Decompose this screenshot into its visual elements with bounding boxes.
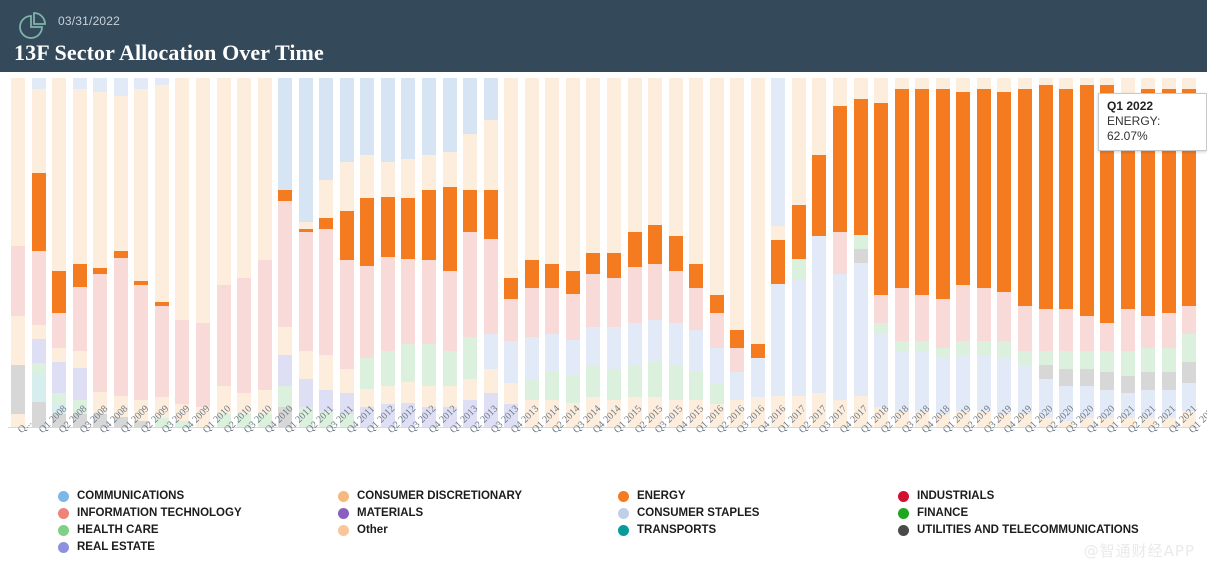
- segment-other: [936, 78, 950, 89]
- segment-real-estate: [52, 362, 66, 394]
- segment-consumer-staples: [73, 78, 87, 89]
- segment-other: [730, 78, 744, 330]
- bar-q2-2013[interactable]: [463, 78, 477, 428]
- segment-health-care: [915, 341, 929, 352]
- segment-other: [32, 89, 46, 173]
- segment-other: [175, 78, 189, 320]
- legend-swatch-icon: [618, 525, 629, 536]
- segment-other: [1141, 78, 1155, 89]
- segment-consumer-staples: [93, 78, 107, 92]
- segment-health-care: [956, 341, 970, 355]
- legend-label: FINANCE: [917, 507, 968, 519]
- segment-utilities-and-telecommunications: [1080, 369, 1094, 387]
- legend-item-real-estate[interactable]: REAL ESTATE: [58, 539, 242, 555]
- segment-health-care: [607, 369, 621, 401]
- legend-swatch-icon: [898, 508, 909, 519]
- segment-consumer-staples: [874, 334, 888, 408]
- segment-health-care: [936, 348, 950, 359]
- segment-energy: [319, 218, 333, 229]
- segment-consumer-staples: [114, 78, 128, 96]
- segment-energy: [566, 271, 580, 294]
- bar-q1-2008[interactable]: [32, 78, 46, 428]
- bar-q4-2019[interactable]: [997, 78, 1011, 428]
- segment-energy: [422, 190, 436, 260]
- legend-item-finance[interactable]: FINANCE: [898, 505, 1139, 521]
- bar-q3-2012[interactable]: [401, 78, 415, 428]
- segment-other: [381, 162, 395, 197]
- segment-health-care: [1100, 351, 1114, 372]
- segment-energy: [32, 173, 46, 252]
- legend-swatch-icon: [898, 525, 909, 536]
- segment-health-care: [278, 386, 292, 407]
- bar-q4-2018[interactable]: [915, 78, 929, 428]
- segment-information-technology: [93, 274, 107, 392]
- segment-health-care: [1018, 351, 1032, 365]
- bar-q2-2019[interactable]: [956, 78, 970, 428]
- bar-q1-2020[interactable]: [1018, 78, 1032, 428]
- bar-q1-2014[interactable]: [525, 78, 539, 428]
- segment-other: [1018, 78, 1032, 89]
- segment-information-technology: [833, 232, 847, 274]
- segment-health-care: [1080, 351, 1094, 369]
- bar-q2-2018[interactable]: [874, 78, 888, 428]
- legend-swatch-icon: [338, 508, 349, 519]
- segment-other: [401, 159, 415, 198]
- segment-energy: [504, 278, 518, 299]
- bar-q2-2020[interactable]: [1039, 78, 1053, 428]
- bar-q1-2017[interactable]: [771, 78, 785, 428]
- segment-real-estate: [73, 368, 87, 400]
- segment-other: [401, 382, 415, 403]
- segment-information-technology: [1018, 306, 1032, 352]
- segment-consumer-staples: [669, 323, 683, 365]
- bar-q2-2009[interactable]: [134, 78, 148, 428]
- legend-label: HEALTH CARE: [77, 524, 159, 536]
- tooltip-value: ENERGY: 62.07%: [1107, 114, 1198, 144]
- segment-energy: [936, 89, 950, 299]
- segment-communications: [319, 78, 333, 180]
- segment-energy: [114, 251, 128, 258]
- segment-other: [155, 85, 169, 302]
- segment-other: [751, 78, 765, 344]
- segment-other: [628, 78, 642, 232]
- bar-q3-2020[interactable]: [1059, 78, 1073, 428]
- segment-consumer-staples: [566, 340, 580, 375]
- legend-label: CONSUMER STAPLES: [637, 507, 759, 519]
- legend-item-consumer-staples[interactable]: CONSUMER STAPLES: [618, 505, 759, 521]
- segment-energy: [854, 99, 868, 234]
- legend-swatch-icon: [338, 525, 349, 536]
- chart-tooltip: Q1 2022 ENERGY: 62.07%: [1098, 93, 1207, 151]
- bar-q4-2013[interactable]: [504, 78, 518, 428]
- legend-label: MATERIALS: [357, 507, 423, 519]
- legend-label: Other: [357, 524, 388, 536]
- segment-information-technology: [443, 271, 457, 352]
- legend-swatch-icon: [898, 491, 909, 502]
- app-header: 03/31/2022 13F Sector Allocation Over Ti…: [0, 0, 1207, 72]
- segment-other: [895, 78, 909, 89]
- report-date: 03/31/2022: [58, 14, 120, 28]
- bar-q3-2016[interactable]: [730, 78, 744, 428]
- segment-energy: [93, 268, 107, 273]
- segment-consumer-staples: [833, 274, 847, 400]
- segment-energy: [895, 89, 909, 289]
- segment-other: [463, 134, 477, 190]
- segment-health-care: [545, 372, 559, 400]
- segment-other: [299, 222, 313, 229]
- segment-other: [874, 78, 888, 103]
- segment-communications: [484, 78, 498, 120]
- legend-item-utilities-and-telecommunications[interactable]: UTILITIES AND TELECOMMUNICATIONS: [898, 522, 1139, 538]
- segment-other: [669, 78, 683, 236]
- segment-utilities-and-telecommunications: [1141, 372, 1155, 390]
- segment-other: [1080, 78, 1094, 85]
- segment-energy: [648, 225, 662, 264]
- bar-q1-2010[interactable]: [196, 78, 210, 428]
- page-title: 13F Sector Allocation Over Time: [14, 40, 324, 66]
- bar-q2-2016[interactable]: [710, 78, 724, 428]
- segment-other: [299, 351, 313, 379]
- segment-utilities-and-telecommunications: [1182, 362, 1196, 383]
- segment-energy: [689, 264, 703, 289]
- bar-q3-2018[interactable]: [895, 78, 909, 428]
- pie-chart-icon: [14, 10, 50, 44]
- bar-q1-2018[interactable]: [854, 78, 868, 428]
- segment-other: [689, 78, 703, 264]
- segment-energy: [52, 271, 66, 313]
- tooltip-title: Q1 2022: [1107, 99, 1198, 114]
- segment-health-care: [32, 363, 46, 374]
- bar-q4-2017[interactable]: [833, 78, 847, 428]
- bar-q2-2015[interactable]: [628, 78, 642, 428]
- segment-information-technology: [628, 267, 642, 323]
- segment-energy: [792, 205, 806, 260]
- legend-column: INDUSTRIALSFINANCEUTILITIES AND TELECOMM…: [898, 488, 1139, 539]
- legend-swatch-icon: [618, 491, 629, 502]
- legend-item-transports[interactable]: TRANSPORTS: [618, 522, 759, 538]
- segment-information-technology: [1100, 323, 1114, 351]
- segment-other: [319, 180, 333, 219]
- segment-energy: [977, 89, 991, 289]
- segment-information-technology: [175, 320, 189, 404]
- legend-column: COMMUNICATIONSINFORMATION TECHNOLOGYHEAL…: [58, 488, 242, 556]
- bar-q4-2007[interactable]: [11, 78, 25, 428]
- segment-other: [340, 369, 354, 394]
- segment-other: [134, 89, 148, 282]
- bar-q4-2015[interactable]: [669, 78, 683, 428]
- segment-health-care: [874, 323, 888, 334]
- bar-q4-2020[interactable]: [1080, 78, 1094, 428]
- segment-other: [52, 348, 66, 362]
- x-axis-labels: Q...Q1 2008Q2 2008Q3 2008Q4 2008Q1 2009Q…: [0, 428, 1207, 486]
- segment-other: [484, 369, 498, 394]
- legend-label: TRANSPORTS: [637, 524, 716, 536]
- segment-energy: [607, 253, 621, 278]
- legend-item-consumer-discretionary[interactable]: CONSUMER DISCRETIONARY: [338, 488, 522, 504]
- segment-utilities-and-telecommunications: [1059, 369, 1073, 387]
- segment-other: [1162, 78, 1176, 89]
- segment-other: [278, 327, 292, 355]
- legend-label: ENERGY: [637, 490, 686, 502]
- legend-item-industrials[interactable]: INDUSTRIALS: [898, 488, 1139, 504]
- legend-item-other[interactable]: Other: [338, 522, 522, 538]
- segment-consumer-staples: [134, 78, 148, 89]
- segment-consumer-staples: [628, 323, 642, 365]
- segment-health-care: [422, 344, 436, 386]
- segment-information-technology: [997, 292, 1011, 341]
- segment-communications: [278, 78, 292, 190]
- bar-q2-2014[interactable]: [545, 78, 559, 428]
- bar-q2-2010[interactable]: [217, 78, 231, 428]
- bar-q3-2011[interactable]: [319, 78, 333, 428]
- bar-q3-2017[interactable]: [812, 78, 826, 428]
- segment-health-care: [586, 365, 600, 397]
- segment-other: [997, 78, 1011, 92]
- watermark: @智通财经APP: [1084, 540, 1195, 561]
- segment-communications: [360, 78, 374, 155]
- segment-utilities-and-telecommunications: [1162, 372, 1176, 390]
- segment-communications: [381, 78, 395, 162]
- segment-consumer-staples: [956, 355, 970, 411]
- segment-energy: [833, 106, 847, 232]
- segment-energy: [586, 253, 600, 274]
- segment-health-care: [566, 375, 580, 403]
- segment-energy: [812, 155, 826, 236]
- segment-information-technology: [360, 266, 374, 357]
- segment-consumer-staples: [792, 280, 806, 396]
- segment-consumer-staples: [915, 351, 929, 411]
- segment-other: [1182, 78, 1196, 88]
- segment-consumer-staples: [854, 263, 868, 397]
- segment-communications: [422, 78, 436, 155]
- bar-q3-2010[interactable]: [237, 78, 251, 428]
- legend-item-materials[interactable]: MATERIALS: [338, 505, 522, 521]
- segment-other: [381, 386, 395, 404]
- segment-energy: [874, 103, 888, 296]
- legend-label: UTILITIES AND TELECOMMUNICATIONS: [917, 524, 1139, 536]
- bar-q4-2012[interactable]: [422, 78, 436, 428]
- segment-information-technology: [422, 260, 436, 344]
- segment-information-technology: [237, 278, 251, 394]
- segment-communications: [401, 78, 415, 159]
- segment-energy: [628, 232, 642, 267]
- segment-information-technology: [319, 229, 333, 355]
- segment-information-technology: [586, 274, 600, 327]
- segment-information-technology: [648, 264, 662, 320]
- bar-q1-2016[interactable]: [689, 78, 703, 428]
- segment-consumer-staples: [545, 334, 559, 373]
- bar-q1-2019[interactable]: [936, 78, 950, 428]
- bar-q1-2009[interactable]: [114, 78, 128, 428]
- bar-q3-2008[interactable]: [73, 78, 87, 428]
- segment-communications: [299, 78, 313, 222]
- segment-energy: [710, 295, 724, 313]
- segment-energy: [155, 302, 169, 306]
- legend-label: COMMUNICATIONS: [77, 490, 184, 502]
- segment-other: [237, 78, 251, 278]
- segment-consumer-staples: [730, 372, 744, 400]
- segment-information-technology: [669, 271, 683, 324]
- segment-energy: [956, 92, 970, 285]
- segment-other: [566, 78, 580, 271]
- legend-label: INFORMATION TECHNOLOGY: [77, 507, 242, 519]
- segment-other: [196, 78, 210, 323]
- segment-energy: [278, 190, 292, 201]
- segment-energy: [360, 198, 374, 267]
- segment-information-technology: [155, 306, 169, 397]
- bar-q3-2014[interactable]: [566, 78, 580, 428]
- segment-energy: [73, 264, 87, 287]
- segment-other: [32, 325, 46, 339]
- bar-q3-2013[interactable]: [484, 78, 498, 428]
- segment-information-technology: [915, 295, 929, 341]
- segment-energy: [1080, 85, 1094, 316]
- legend-swatch-icon: [58, 542, 69, 553]
- segment-information-technology: [381, 257, 395, 352]
- legend-item-energy[interactable]: ENERGY: [618, 488, 759, 504]
- bar-q4-2009[interactable]: [175, 78, 189, 428]
- bar-q2-2011[interactable]: [299, 78, 313, 428]
- segment-other: [854, 78, 868, 99]
- bar-q1-2011[interactable]: [278, 78, 292, 428]
- bar-q1-2012[interactable]: [360, 78, 374, 428]
- legend-label: INDUSTRIALS: [917, 490, 994, 502]
- bar-q4-2016[interactable]: [751, 78, 765, 428]
- segment-energy: [381, 197, 395, 257]
- bar-q4-2010[interactable]: [258, 78, 272, 428]
- segment-other: [73, 351, 87, 369]
- segment-other: [504, 78, 518, 278]
- segment-health-care: [628, 365, 642, 397]
- segment-other: [11, 316, 25, 365]
- segment-energy: [545, 264, 559, 289]
- segment-other: [422, 155, 436, 190]
- legend-column: ENERGYCONSUMER STAPLESTRANSPORTS: [618, 488, 759, 539]
- segment-energy: [299, 229, 313, 233]
- legend-swatch-icon: [338, 491, 349, 502]
- bar-q3-2015[interactable]: [648, 78, 662, 428]
- legend-item-information-technology[interactable]: INFORMATION TECHNOLOGY: [58, 505, 242, 521]
- segment-other: [525, 78, 539, 260]
- segment-information-technology: [196, 323, 210, 407]
- bar-q3-2019[interactable]: [977, 78, 991, 428]
- bar-q2-2008[interactable]: [52, 78, 66, 428]
- segment-real-estate: [278, 355, 292, 387]
- bar-q4-2011[interactable]: [340, 78, 354, 428]
- segment-other: [771, 226, 785, 240]
- segment-utilities-and-telecommunications: [1039, 365, 1053, 379]
- segment-consumer-staples: [689, 330, 703, 372]
- segment-information-technology: [11, 246, 25, 316]
- segment-information-technology: [607, 278, 621, 327]
- segment-information-technology: [258, 260, 272, 390]
- segment-information-technology: [73, 287, 87, 350]
- bar-q4-2008[interactable]: [93, 78, 107, 428]
- segment-energy: [463, 190, 477, 232]
- segment-consumer-staples: [812, 236, 826, 394]
- bar-q1-2013[interactable]: [443, 78, 457, 428]
- segment-consumer-staples: [771, 78, 785, 226]
- bar-q2-2012[interactable]: [381, 78, 395, 428]
- segment-health-care: [1039, 351, 1053, 365]
- bar-q1-2015[interactable]: [607, 78, 621, 428]
- segment-other: [319, 355, 333, 390]
- segment-health-care: [1162, 348, 1176, 373]
- segment-consumer-staples: [155, 78, 169, 85]
- segment-other: [833, 78, 847, 106]
- segment-other: [443, 152, 457, 187]
- segment-health-care: [1059, 351, 1073, 369]
- segment-energy: [401, 198, 415, 260]
- legend-label: REAL ESTATE: [77, 541, 155, 553]
- segment-health-care: [463, 337, 477, 379]
- segment-consumer-staples: [771, 284, 785, 397]
- segment-energy: [134, 281, 148, 285]
- segment-health-care: [381, 351, 395, 386]
- segment-information-technology: [956, 285, 970, 341]
- segment-health-care: [1182, 334, 1196, 362]
- bar-q4-2014[interactable]: [586, 78, 600, 428]
- chart-legend: COMMUNICATIONSINFORMATION TECHNOLOGYHEAL…: [0, 488, 1207, 548]
- segment-other: [258, 78, 272, 260]
- segment-health-care: [52, 393, 66, 404]
- segment-energy: [997, 92, 1011, 292]
- segment-other: [586, 78, 600, 253]
- segment-other: [73, 89, 87, 265]
- segment-utilities-and-telecommunications: [1121, 376, 1135, 394]
- segment-information-technology: [895, 288, 909, 341]
- legend-label: CONSUMER DISCRETIONARY: [357, 490, 522, 502]
- segment-other: [484, 120, 498, 190]
- bar-q2-2017[interactable]: [792, 78, 806, 428]
- segment-information-technology: [134, 285, 148, 401]
- segment-other: [545, 78, 559, 264]
- legend-column: CONSUMER DISCRETIONARYMATERIALSOther: [338, 488, 522, 539]
- segment-health-care: [689, 372, 703, 400]
- segment-energy: [1059, 89, 1073, 310]
- segment-health-care: [710, 383, 724, 404]
- segment-other: [93, 92, 107, 268]
- segment-consumer-staples: [504, 341, 518, 383]
- segment-other: [915, 78, 929, 89]
- segment-information-technology: [1059, 309, 1073, 351]
- segment-information-technology: [463, 232, 477, 337]
- segment-consumer-staples: [484, 334, 498, 369]
- segment-information-technology: [484, 239, 498, 334]
- segment-utilities-and-telecommunications: [1100, 372, 1114, 390]
- segment-health-care: [895, 341, 909, 352]
- segment-energy: [1121, 127, 1135, 309]
- legend-item-communications[interactable]: COMMUNICATIONS: [58, 488, 242, 504]
- segment-health-care: [977, 341, 991, 355]
- bar-q3-2009[interactable]: [155, 78, 169, 428]
- segment-other: [977, 78, 991, 89]
- segment-health-care: [997, 341, 1011, 359]
- segment-health-care: [648, 362, 662, 397]
- legend-item-health-care[interactable]: HEALTH CARE: [58, 522, 242, 538]
- segment-consumer-staples: [32, 78, 46, 89]
- segment-energy: [484, 190, 498, 239]
- segment-information-technology: [545, 288, 559, 334]
- segment-health-care: [792, 259, 806, 280]
- segment-communications: [340, 78, 354, 162]
- segment-other: [1100, 78, 1114, 85]
- segment-information-technology: [977, 288, 991, 341]
- segment-other: [812, 78, 826, 155]
- segment-other: [11, 78, 25, 246]
- segment-consumer-staples: [525, 337, 539, 379]
- legend-swatch-icon: [58, 491, 69, 502]
